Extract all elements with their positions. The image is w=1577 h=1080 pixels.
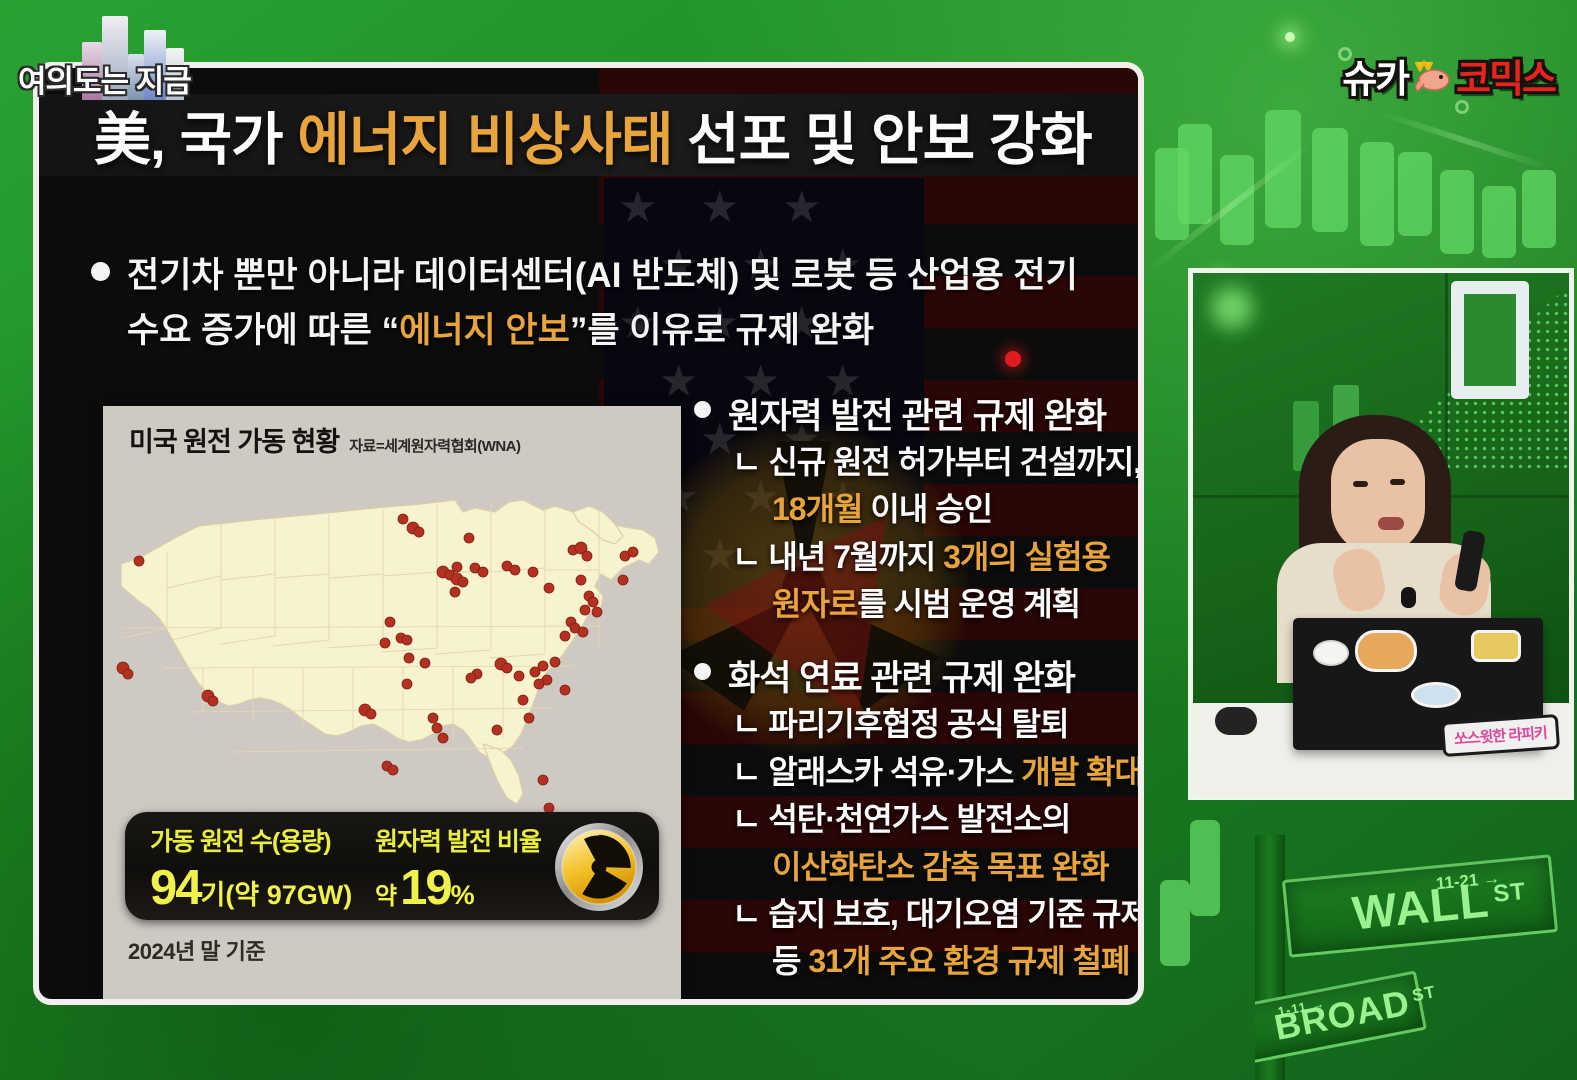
- bullet-dot-icon: [694, 663, 711, 680]
- bullet-group-header: 화석 연료 관련 규제 완화: [694, 650, 1144, 701]
- bullet-sub-line: 원자로를 시범 운영 계획: [772, 581, 1144, 628]
- highlighted-text: 18개월: [772, 491, 862, 527]
- bullet-sub-line: ㄴ 석탄·천연가스 발전소의: [732, 796, 1144, 843]
- bullet-sub-line: ㄴ 습지 보호, 대기오염 기준 규제: [732, 891, 1144, 938]
- plain-text: ”를 이유로 규제 완화: [570, 311, 874, 350]
- us-nuclear-plants-map: [103, 468, 681, 813]
- wall-street-sign-group: 11-21 → WALL ST 1-11 → BROAD ST: [1255, 835, 1577, 1080]
- radioactive-trefoil-icon: [553, 821, 645, 913]
- bullet-sub-line: ㄴ 알래스카 석유·가스 개발 확대: [732, 749, 1144, 796]
- studio-letter-graphic: [1451, 281, 1529, 399]
- stat-value-number: 19: [400, 861, 451, 915]
- highlighted-text: 개발 확대: [1021, 754, 1143, 790]
- plain-text: ㄴ 내년 7월까지: [732, 539, 943, 575]
- computer-mouse: [1215, 707, 1257, 735]
- plain-text: ㄴ 습지 보호, 대기오염 기준 규제: [732, 896, 1144, 932]
- studio-light-glow: [1211, 287, 1253, 329]
- bullet-sub-line: ㄴ 파리기후협정 공식 탈퇴: [732, 701, 1144, 748]
- stat-value-number: 94: [150, 861, 201, 915]
- stat-label: 가동 원전 수(용량): [150, 822, 352, 858]
- stat-value: 약19%: [375, 860, 541, 916]
- show-logo: 슈카 코믹스: [1342, 48, 1555, 103]
- background-candle: [1482, 186, 1516, 258]
- page-title: 美, 국가 에너지 비상사태 선포 및 안보 강화: [94, 94, 1092, 176]
- bullet-sub-line: ㄴ 내년 7월까지 3개의 실험용: [732, 534, 1144, 581]
- crowned-shrimp-icon: [1410, 56, 1454, 96]
- stat-value: 94기(약 97GW): [150, 860, 352, 916]
- background-glow-dot: [1285, 32, 1295, 42]
- plain-text: ㄴ 알래스카 석유·가스: [732, 754, 1021, 790]
- bullet-group-title: 화석 연료 관련 규제 완화: [728, 650, 1075, 701]
- wall-sign-number: 11-21 →: [1435, 868, 1501, 894]
- bullet-sub-line: 18개월 이내 승인: [772, 486, 1144, 533]
- bear-sticker: [1471, 630, 1521, 662]
- lapel-microphone-icon: [1401, 587, 1416, 608]
- background-candle: [1522, 170, 1556, 248]
- plain-text: ㄴ 석탄·천연가스 발전소의: [732, 801, 1070, 837]
- highlighted-text: 3개의 실험용: [943, 539, 1110, 575]
- bullet-dot-icon: [694, 401, 711, 418]
- highlighted-text: 에너지 비상사태: [297, 108, 672, 172]
- background-candle: [1178, 124, 1212, 224]
- highlighted-text: 31개 주요 환경 규제 철폐: [808, 943, 1129, 979]
- presenter-eye: [1390, 479, 1405, 485]
- bullet-sub-line: 등 31개 주요 환경 규제 철폐: [772, 938, 1144, 985]
- bullet-group: 원자력 발전 관련 규제 완화ㄴ 신규 원전 허가부터 건설까지,18개월 이내…: [694, 388, 1144, 628]
- lead-line-1: 전기차 뿐만 아니라 데이터센터(AI 반도체) 및 로봇 등 산업용 전기: [127, 248, 1078, 303]
- presenter-mouth: [1378, 517, 1404, 530]
- plain-text: ㄴ 파리기후협정 공식 탈퇴: [732, 706, 1069, 742]
- stat-value-unit: 기(약 97GW): [201, 880, 353, 910]
- infographic-card: 미국 원전 가동 현황 자료=세계원자력협회(WNA): [103, 406, 681, 1005]
- bullet-group-header: 원자력 발전 관련 규제 완화: [694, 388, 1144, 439]
- highlighted-text: 에너지 안보: [399, 311, 570, 350]
- background-candle: [1440, 170, 1474, 254]
- background-candle: [1160, 880, 1190, 966]
- infographic-header: 미국 원전 가동 현황 자료=세계원자력협회(WNA): [103, 406, 681, 468]
- lead-line-2: 수요 증가에 따른 “에너지 안보”를 이유로 규제 완화: [127, 303, 1121, 358]
- bullet-group: 화석 연료 관련 규제 완화ㄴ 파리기후협정 공식 탈퇴ㄴ 알래스카 석유·가스…: [694, 650, 1144, 985]
- hamster-sticker: [1355, 630, 1417, 672]
- stat-value-unit: %: [451, 880, 475, 910]
- stat-value-prefix: 약: [375, 883, 397, 910]
- plain-text: 를 시범 운영 계획: [857, 586, 1080, 622]
- background-candle: [1360, 142, 1394, 246]
- presenter-webcam-panel: 쏘스윗한 라피키: [1188, 268, 1574, 800]
- logo-text-right: 코믹스: [1456, 48, 1555, 103]
- bullet-dot-icon: [91, 262, 110, 281]
- bullet-sub-line: ㄴ 신규 원전 허가부터 건설까지,: [732, 439, 1144, 486]
- presenter-face: [1331, 439, 1425, 555]
- logo-text-left: 슈카: [1342, 48, 1408, 103]
- plain-text: 美, 국가: [94, 108, 297, 172]
- plain-text: 선포 및 안보 강화: [672, 108, 1091, 172]
- presenter-eye: [1353, 481, 1368, 487]
- lead-paragraph: 전기차 뿐만 아니라 데이터센터(AI 반도체) 및 로봇 등 산업용 전기 수…: [91, 248, 1121, 359]
- bullet-sub-line: 이산화탄소 감축 목표 완화: [772, 844, 1144, 891]
- wall-street-sign: 11-21 → WALL ST: [1282, 854, 1558, 958]
- highlighted-text: 원자로: [772, 586, 857, 622]
- background-candle: [1312, 128, 1348, 232]
- shrimp-sticker: [1313, 640, 1349, 666]
- stat-reactor-count: 가동 원전 수(용량) 94기(약 97GW): [150, 822, 352, 916]
- stats-box: 가동 원전 수(용량) 94기(약 97GW) 원자력 발전 비율 약19%: [125, 812, 659, 920]
- infographic-title: 미국 원전 가동 현황: [129, 420, 339, 459]
- bullet-group-title: 원자력 발전 관련 규제 완화: [728, 388, 1106, 439]
- stats-note: 2024년 말 기준: [128, 934, 265, 966]
- bullet-column: 원자력 발전 관련 규제 완화ㄴ 신규 원전 허가부터 건설까지,18개월 이내…: [694, 388, 1144, 1005]
- slide-title-bar: 美, 국가 에너지 비상사태 선포 및 안보 강화: [39, 94, 1138, 176]
- plane-sticker: [1411, 682, 1461, 708]
- background-candle: [1398, 152, 1432, 236]
- stat-label: 원자력 발전 비율: [375, 822, 541, 858]
- plain-text: 이내 승인: [862, 491, 992, 527]
- background-candle: [1190, 820, 1220, 916]
- stat-nuclear-share: 원자력 발전 비율 약19%: [375, 822, 541, 916]
- broad-sign-suffix: ST: [1411, 982, 1438, 1006]
- plain-text: 수요 증가에 따른 “: [127, 311, 399, 350]
- highlighted-text: 이산화탄소 감축 목표 완화: [772, 849, 1109, 885]
- plain-text: ㄴ 신규 원전 허가부터 건설까지,: [732, 444, 1141, 480]
- infographic-source: 자료=세계원자력협회(WNA): [349, 435, 520, 456]
- plain-text: 등: [772, 943, 808, 979]
- presentation-slide: ★ ★ ★ ★ ★ ★ ★ ★ ★ ★ ★ ★ ★ ★ ★ ★ ★ ★ ★ ★ …: [33, 62, 1144, 1005]
